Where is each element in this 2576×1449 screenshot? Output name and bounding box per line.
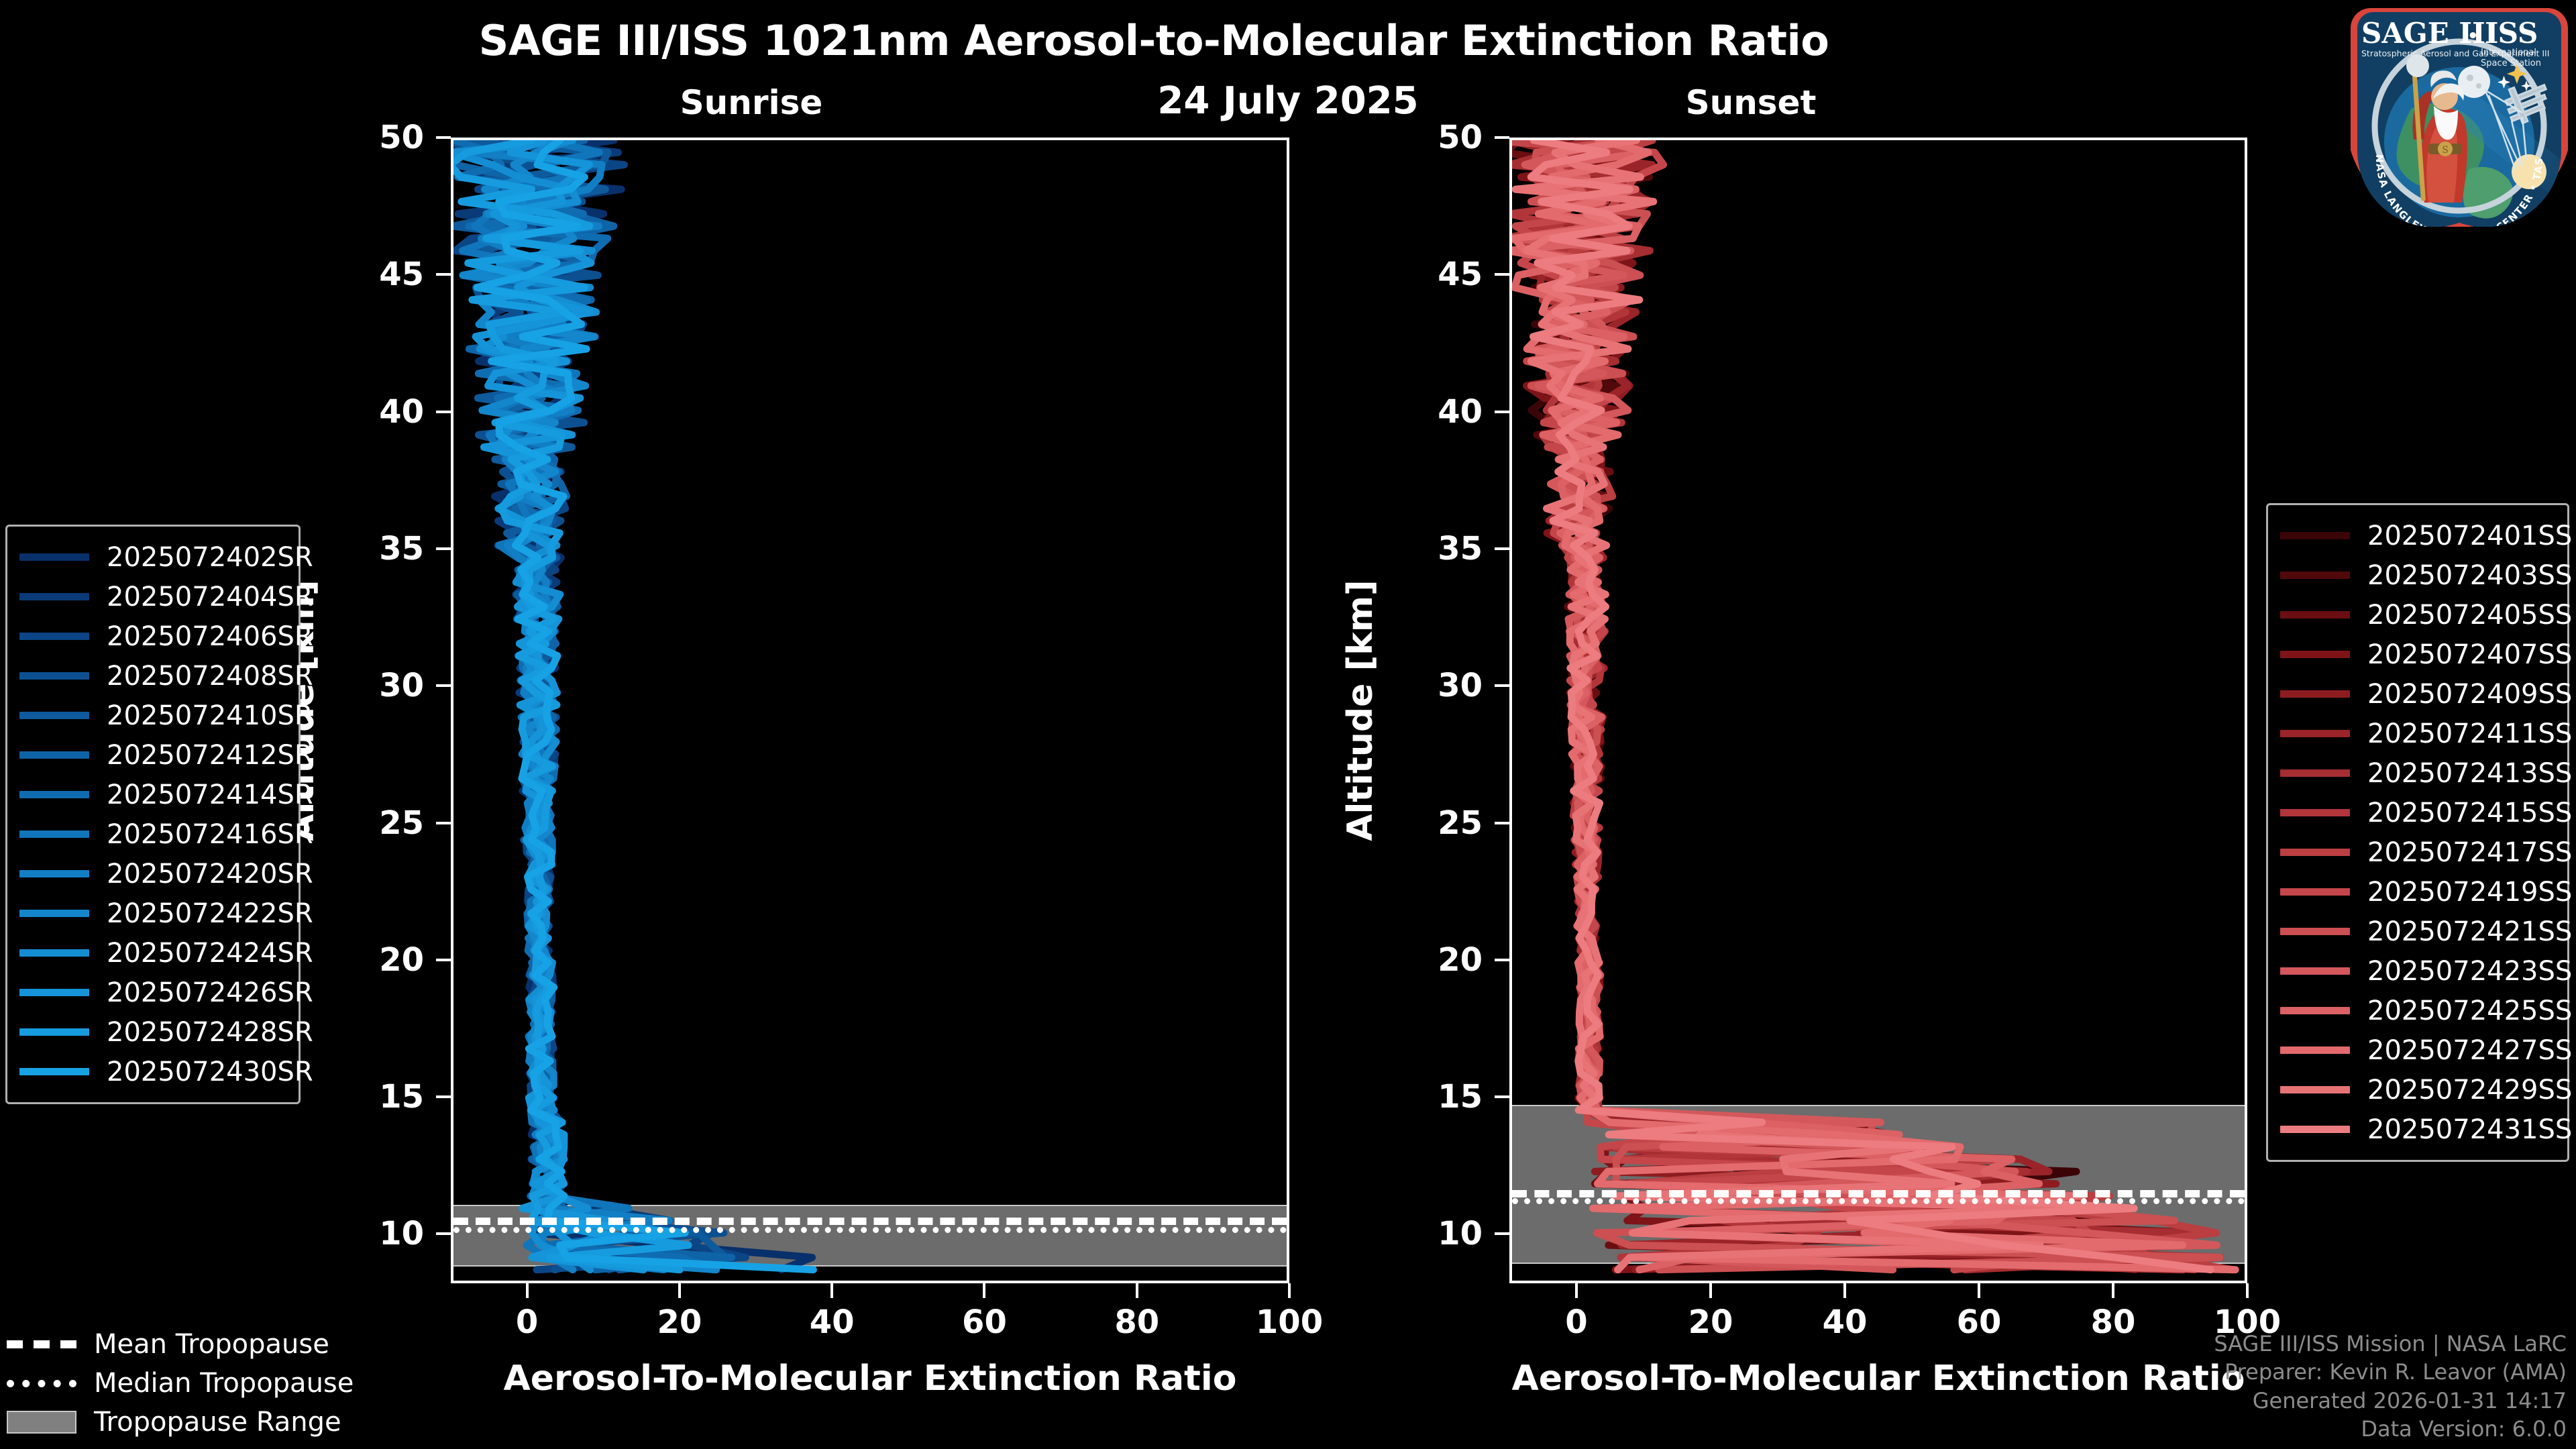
legend-sunrise-event-swatch-icon	[19, 830, 89, 838]
legend-sunset-event-swatch-icon	[2280, 967, 2350, 975]
y-tick	[436, 822, 451, 824]
median-tropopause-line-sunset	[1512, 1198, 2245, 1204]
logo-title-separator: •	[2467, 26, 2479, 46]
legend-sunrise-event-swatch-icon	[19, 593, 89, 600]
legend-sunset-event-item[interactable]: 2025072413SS	[2280, 753, 2553, 793]
legend-sunset-event-swatch-icon	[2280, 809, 2350, 816]
y-tick	[436, 1232, 451, 1235]
legend-sunrise-event-label: 2025072416SR	[107, 819, 313, 850]
x-tick	[1843, 1283, 1846, 1298]
y-tick	[1495, 822, 1509, 824]
x-tick	[526, 1283, 529, 1298]
legend-sunrise-event-swatch-icon	[19, 1068, 89, 1075]
x-tick	[1288, 1283, 1291, 1298]
y-tick	[436, 959, 451, 961]
legend-sunset-event-swatch-icon	[2280, 928, 2350, 935]
y-tick	[1495, 1232, 1509, 1235]
legend-label-median-tropopause: Median Tropopause	[94, 1368, 354, 1399]
y-tick	[436, 1095, 451, 1098]
x-axis-title-sunset: Aerosol-To-Molecular Extinction Ratio	[1509, 1358, 2247, 1399]
legend-item-median-tropopause: Median Tropopause	[7, 1364, 356, 1403]
legend-sunrise-event-label: 2025072404SR	[107, 582, 313, 612]
y-tick-label: 25	[350, 804, 424, 842]
logo-title-iss: ISS	[2485, 17, 2538, 50]
legend-sunrise-event-swatch-icon	[19, 751, 89, 759]
legend-label-tropopause-range: Tropopause Range	[94, 1407, 341, 1438]
y-tick-label: 35	[350, 530, 424, 568]
legend-sunrise-event-item[interactable]: 2025072414SR	[19, 775, 284, 814]
legend-tropopause-key: Mean Tropopause Median Tropopause Tropop…	[7, 1325, 356, 1442]
y-tick	[1495, 273, 1509, 276]
plot-area-sunset	[1509, 138, 2247, 1283]
legend-sunset-event-label: 2025072427SS	[2367, 1035, 2572, 1066]
credits-line-preparer: Preparer: Kevin R. Leavor (AMA)	[2214, 1358, 2567, 1387]
median-tropopause-line-sunrise	[453, 1227, 1287, 1233]
legend-sunrise-events[interactable]: 2025072402SR2025072404SR2025072406SR2025…	[5, 525, 301, 1104]
y-tick-label: 30	[1409, 667, 1483, 704]
y-tick	[436, 547, 451, 550]
legend-sunrise-event-label: 2025072420SR	[107, 859, 313, 890]
x-tick-label: 80	[2059, 1303, 2167, 1341]
credits-block: SAGE III/ISS Mission | NASA LaRC Prepare…	[2214, 1330, 2567, 1444]
legend-sunrise-event-swatch-icon	[19, 870, 89, 877]
legend-sunset-event-swatch-icon	[2280, 730, 2350, 737]
legend-sunrise-event-item[interactable]: 2025072408SR	[19, 656, 284, 696]
legend-label-mean-tropopause: Mean Tropopause	[94, 1329, 329, 1360]
legend-sunrise-event-label: 2025072412SR	[107, 740, 313, 771]
legend-sunset-event-item[interactable]: 2025072425SS	[2280, 991, 2553, 1030]
x-tick	[678, 1283, 681, 1298]
legend-sunset-event-label: 2025072417SS	[2367, 837, 2572, 868]
legend-sunrise-event-item[interactable]: 2025072412SR	[19, 735, 284, 775]
legend-sunrise-event-label: 2025072408SR	[107, 661, 313, 692]
y-tick-label: 30	[350, 667, 424, 704]
legend-sunset-event-item[interactable]: 2025072429SS	[2280, 1070, 2553, 1110]
legend-sunrise-event-item[interactable]: 2025072428SR	[19, 1012, 284, 1052]
sage-iii-iss-logo: S BALL • NASA LANGLEY RESEARCH CENTER • …	[2347, 1, 2572, 227]
y-tick-label: 25	[1409, 804, 1483, 842]
legend-sunset-event-item[interactable]: 2025072421SS	[2280, 912, 2553, 951]
y-tick	[1495, 411, 1509, 413]
x-tick	[1136, 1283, 1138, 1298]
credits-line-data-version: Data Version: 6.0.0	[2214, 1415, 2567, 1444]
y-tick	[1495, 1095, 1509, 1098]
credits-line-generated: Generated 2026-01-31 14:17	[2214, 1387, 2567, 1415]
legend-sunset-event-label: 2025072409SS	[2367, 679, 2572, 710]
legend-sunset-event-label: 2025072401SS	[2367, 521, 2572, 551]
legend-sunset-event-item[interactable]: 2025072423SS	[2280, 951, 2553, 991]
legend-sunrise-event-label: 2025072428SR	[107, 1017, 313, 1048]
logo-subtitle-international: International	[2481, 48, 2536, 58]
legend-sunset-event-swatch-icon	[2280, 1126, 2350, 1133]
legend-sunrise-event-swatch-icon	[19, 1028, 89, 1036]
y-tick-label: 10	[350, 1215, 424, 1252]
legend-sunset-event-swatch-icon	[2280, 532, 2350, 539]
legend-sunrise-event-label: 2025072424SR	[107, 938, 313, 969]
legend-sunrise-event-label: 2025072410SR	[107, 700, 313, 731]
y-tick	[1495, 136, 1509, 139]
legend-sunrise-event-label: 2025072430SR	[107, 1057, 313, 1087]
y-tick	[436, 684, 451, 687]
y-tick-label: 40	[1409, 393, 1483, 431]
mean-tropopause-line-sunrise	[453, 1218, 1287, 1225]
plot-clip-sunset	[1512, 140, 2245, 1281]
x-tick-label: 20	[626, 1303, 733, 1341]
profile-lines-sunset	[1512, 140, 2245, 1281]
x-axis-title-sunrise: Aerosol-To-Molecular Extinction Ratio	[451, 1358, 1289, 1399]
legend-sunrise-event-item[interactable]: 2025072424SR	[19, 933, 284, 973]
legend-sunrise-event-label: 2025072414SR	[107, 780, 313, 810]
x-tick-label: 80	[1083, 1303, 1191, 1341]
legend-sunset-event-item[interactable]: 2025072431SS	[2280, 1110, 2553, 1149]
legend-sunrise-event-item[interactable]: 2025072416SR	[19, 814, 284, 854]
legend-sunrise-event-swatch-icon	[19, 949, 89, 957]
legend-sunset-event-item[interactable]: 2025072415SS	[2280, 793, 2553, 833]
legend-sunrise-event-swatch-icon	[19, 989, 89, 996]
legend-sunrise-event-label: 2025072422SR	[107, 898, 313, 929]
panel-title-sunrise: Sunrise	[644, 83, 859, 122]
y-tick-label: 50	[1409, 119, 1483, 156]
legend-sunset-event-item[interactable]: 2025072407SS	[2280, 635, 2553, 674]
legend-sunset-event-label: 2025072403SS	[2367, 560, 2572, 591]
legend-sunrise-event-item[interactable]: 2025072402SR	[19, 537, 284, 577]
legend-item-tropopause-range: Tropopause Range	[7, 1403, 356, 1442]
y-tick-label: 20	[1409, 941, 1483, 979]
legend-sunset-event-swatch-icon	[2280, 1007, 2350, 1014]
legend-sunset-event-swatch-icon	[2280, 849, 2350, 856]
legend-sunset-event-label: 2025072407SS	[2367, 639, 2572, 670]
x-tick-label: 0	[1523, 1303, 1630, 1341]
legend-sunrise-event-swatch-icon	[19, 672, 89, 680]
legend-sunrise-event-item[interactable]: 2025072410SR	[19, 696, 284, 735]
legend-sunset-event-swatch-icon	[2280, 769, 2350, 777]
legend-sunrise-event-label: 2025072402SR	[107, 542, 313, 573]
y-tick-label: 15	[350, 1078, 424, 1116]
legend-sunset-event-swatch-icon	[2280, 1046, 2350, 1054]
legend-sunset-event-label: 2025072411SS	[2367, 718, 2572, 749]
y-axis-title-sunset: Altitude [km]	[1340, 138, 1381, 1283]
y-tick-label: 45	[1409, 256, 1483, 293]
y-tick-label: 20	[350, 941, 424, 979]
legend-sunset-event-label: 2025072421SS	[2367, 916, 2572, 947]
x-tick	[1575, 1283, 1578, 1298]
x-tick	[2112, 1283, 2114, 1298]
legend-sunset-event-label: 2025072419SS	[2367, 877, 2572, 908]
legend-sunset-event-swatch-icon	[2280, 1086, 2350, 1093]
x-tick-label: 0	[474, 1303, 581, 1341]
x-tick	[1709, 1283, 1712, 1298]
legend-sunset-event-label: 2025072415SS	[2367, 798, 2572, 828]
x-tick-label: 40	[1791, 1303, 1898, 1341]
legend-sunrise-event-item[interactable]: 2025072430SR	[19, 1052, 284, 1091]
y-tick	[436, 273, 451, 276]
y-tick-label: 45	[350, 256, 424, 293]
legend-sunset-event-item[interactable]: 2025072417SS	[2280, 833, 2553, 872]
x-tick-label: 100	[1236, 1303, 1343, 1341]
legend-sunset-event-item[interactable]: 2025072401SS	[2280, 516, 2553, 555]
legend-sunrise-event-item[interactable]: 2025072426SR	[19, 973, 284, 1012]
figure-title: SAGE III/ISS 1021nm Aerosol-to-Molecular…	[0, 16, 2308, 65]
y-tick	[1495, 547, 1509, 550]
x-tick-label: 60	[930, 1303, 1038, 1341]
legend-sunset-event-swatch-icon	[2280, 690, 2350, 698]
legend-sunrise-event-swatch-icon	[19, 791, 89, 798]
legend-sunset-event-label: 2025072429SS	[2367, 1075, 2572, 1106]
mean-tropopause-swatch-icon	[7, 1340, 76, 1348]
legend-sunset-event-item[interactable]: 2025072411SS	[2280, 714, 2553, 753]
figure-date-title: 24 July 2025	[0, 79, 2576, 123]
legend-sunset-event-label: 2025072413SS	[2367, 758, 2572, 789]
logo-subtitle-space-station: Space Station	[2481, 58, 2541, 68]
legend-sunrise-event-item[interactable]: 2025072406SR	[19, 616, 284, 656]
median-tropopause-swatch-icon	[7, 1380, 76, 1387]
legend-sunset-event-item[interactable]: 2025072409SS	[2280, 674, 2553, 714]
plot-clip-sunrise	[453, 140, 1287, 1281]
y-tick	[1495, 684, 1509, 687]
legend-item-mean-tropopause: Mean Tropopause	[7, 1325, 356, 1364]
legend-sunrise-event-label: 2025072406SR	[107, 621, 313, 652]
legend-sunset-event-swatch-icon	[2280, 651, 2350, 658]
legend-sunset-event-swatch-icon	[2280, 611, 2350, 619]
legend-sunset-event-label: 2025072423SS	[2367, 956, 2572, 987]
legend-sunset-event-item[interactable]: 2025072405SS	[2280, 595, 2553, 635]
y-tick	[436, 411, 451, 413]
legend-sunset-event-label: 2025072425SS	[2367, 996, 2572, 1026]
legend-sunrise-event-swatch-icon	[19, 910, 89, 917]
legend-sunset-events[interactable]: 2025072401SS2025072403SS2025072405SS2025…	[2266, 503, 2569, 1162]
x-tick	[983, 1283, 985, 1298]
legend-sunrise-event-swatch-icon	[19, 712, 89, 719]
x-tick-label: 20	[1657, 1303, 1764, 1341]
legend-sunrise-event-swatch-icon	[19, 633, 89, 640]
legend-sunset-event-label: 2025072431SS	[2367, 1114, 2572, 1145]
x-tick-label: 40	[778, 1303, 885, 1341]
x-tick	[1978, 1283, 1980, 1298]
credits-line-mission: SAGE III/ISS Mission | NASA LaRC	[2214, 1330, 2567, 1358]
svg-text:S: S	[2442, 145, 2449, 156]
y-tick-label: 40	[350, 393, 424, 431]
plot-area-sunrise	[451, 138, 1289, 1283]
legend-sunrise-event-item[interactable]: 2025072422SR	[19, 894, 284, 933]
x-tick	[2246, 1283, 2249, 1298]
legend-sunrise-event-item[interactable]: 2025072404SR	[19, 577, 284, 616]
panel-title-sunset: Sunset	[1644, 83, 1858, 122]
legend-sunrise-event-swatch-icon	[19, 553, 89, 561]
legend-sunset-event-swatch-icon	[2280, 572, 2350, 579]
y-tick-label: 50	[350, 119, 424, 156]
y-tick-label: 10	[1409, 1215, 1483, 1252]
legend-sunset-event-item[interactable]: 2025072419SS	[2280, 872, 2553, 912]
x-tick-label: 60	[1925, 1303, 2033, 1341]
legend-sunset-event-item[interactable]: 2025072403SS	[2280, 555, 2553, 595]
tropopause-range-swatch-icon	[7, 1411, 76, 1434]
y-tick	[1495, 959, 1509, 961]
y-tick	[436, 136, 451, 139]
legend-sunset-event-label: 2025072405SS	[2367, 600, 2572, 631]
legend-sunset-event-swatch-icon	[2280, 888, 2350, 896]
y-tick-label: 35	[1409, 530, 1483, 568]
legend-sunset-event-item[interactable]: 2025072427SS	[2280, 1030, 2553, 1070]
legend-sunrise-event-item[interactable]: 2025072420SR	[19, 854, 284, 894]
x-tick	[830, 1283, 833, 1298]
profile-lines-sunrise	[453, 140, 1287, 1281]
legend-sunrise-event-label: 2025072426SR	[107, 977, 313, 1008]
profile-line	[1536, 140, 2232, 1270]
y-tick-label: 15	[1409, 1078, 1483, 1116]
mean-tropopause-line-sunset	[1512, 1190, 2245, 1197]
